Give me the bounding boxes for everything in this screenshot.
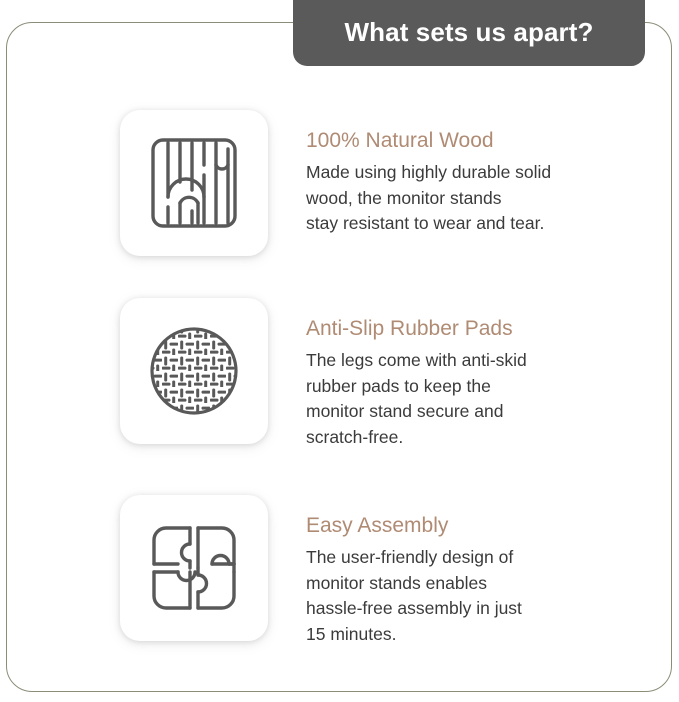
rubber-pad-texture-icon	[146, 323, 242, 419]
feature-heading: 100% Natural Wood	[306, 128, 636, 154]
puzzle-pieces-icon	[148, 522, 240, 614]
feature-icon-tile	[120, 298, 268, 444]
feature-heading: Easy Assembly	[306, 513, 636, 539]
feature-text-block: 100% Natural Wood Made using highly dura…	[306, 128, 636, 237]
wood-grain-icon	[148, 135, 240, 231]
feature-description: Made using highly durable solid wood, th…	[306, 160, 636, 237]
feature-description: The legs come with anti-skid rubber pads…	[306, 348, 636, 450]
feature-icon-tile	[120, 495, 268, 641]
feature-icon-tile	[120, 110, 268, 256]
header-banner: What sets us apart?	[293, 0, 645, 66]
feature-text-block: Anti-Slip Rubber Pads The legs come with…	[306, 316, 636, 450]
page-title: What sets us apart?	[345, 19, 594, 48]
feature-text-block: Easy Assembly The user-friendly design o…	[306, 513, 636, 647]
feature-heading: Anti-Slip Rubber Pads	[306, 316, 636, 342]
feature-description: The user-friendly design of monitor stan…	[306, 545, 636, 647]
